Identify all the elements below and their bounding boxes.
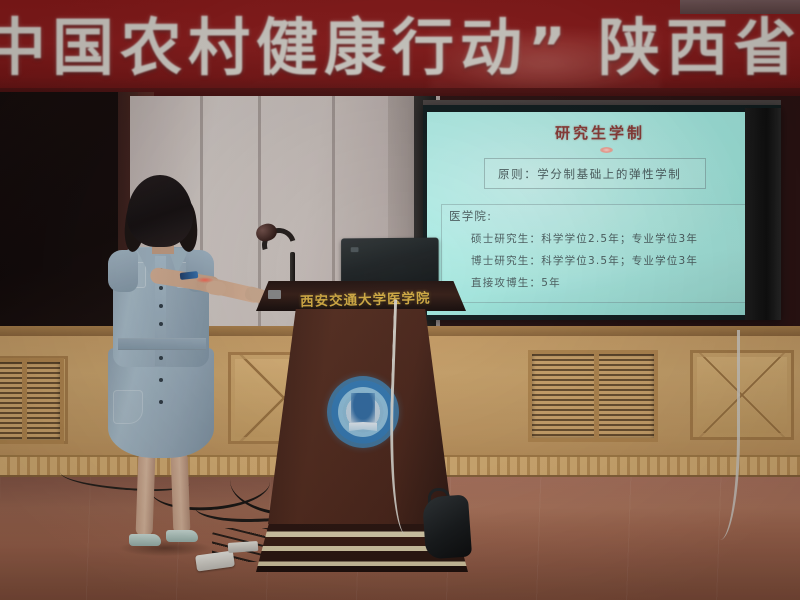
presenter-waist-band	[118, 338, 206, 350]
wall-power-cable	[700, 330, 740, 540]
presenter-button	[159, 400, 163, 404]
presenter-button	[159, 378, 163, 382]
podium-nameplate	[268, 290, 281, 299]
louvered-air-vent	[0, 358, 64, 444]
louvered-air-vent	[528, 350, 658, 442]
shoulder-bag[interactable]	[422, 494, 472, 559]
slide-section-heading: 医学院:	[449, 208, 492, 224]
banner-quote-mark: ”	[528, 15, 572, 83]
ceiling-strip	[680, 0, 800, 14]
presenter-leg-right	[171, 452, 191, 535]
banner-text-main: 中国农村健康行动	[0, 11, 528, 84]
laptop-logo	[351, 247, 359, 252]
presenter-button	[159, 286, 163, 290]
screen-right-shadow	[745, 108, 781, 320]
presenter-button	[159, 356, 163, 360]
presenter-button	[159, 322, 163, 326]
conference-photo: 中国农村健康行动”陕西省 研究生学制 原则：学分制基础上的弹性学制 医学院: 硕…	[0, 0, 800, 600]
laser-dot-on-screen	[600, 147, 613, 153]
emblem-center-motif	[351, 393, 375, 423]
university-emblem-icon	[327, 376, 399, 448]
power-strip-secondary[interactable]	[228, 541, 259, 553]
banner-text-tail: 陕西省	[598, 11, 800, 84]
presenter-sleeve-left	[108, 250, 138, 292]
presenter-shoe-right	[166, 530, 198, 542]
slide-principle-box: 原则：学分制基础上的弹性学制	[484, 158, 706, 189]
slide-line-direct-phd: 直接攻博生：5年	[471, 275, 561, 290]
banner-text: 中国农村健康行动”陕西省	[0, 6, 800, 91]
projection-screen: 研究生学制 原则：学分制基础上的弹性学制 医学院: 硕士研究生：科学学位2.5年…	[427, 112, 773, 315]
slide-title: 研究生学制	[427, 122, 773, 143]
presenter-shoe-left	[129, 534, 161, 546]
laser-pointer-beam	[196, 277, 214, 283]
presenter-leg-left	[136, 452, 156, 537]
presenter-button	[159, 304, 163, 308]
slide-principle-text: 原则：学分制基础上的弹性学制	[498, 166, 681, 182]
slide-line-doctoral: 博士研究生：科学学位3.5年；专业学位3年	[471, 253, 698, 268]
event-banner: 中国农村健康行动”陕西省	[0, 0, 800, 96]
slide-line-masters: 硕士研究生：科学学位2.5年；专业学位3年	[471, 231, 698, 246]
presenter-dress-pocket	[113, 390, 143, 424]
